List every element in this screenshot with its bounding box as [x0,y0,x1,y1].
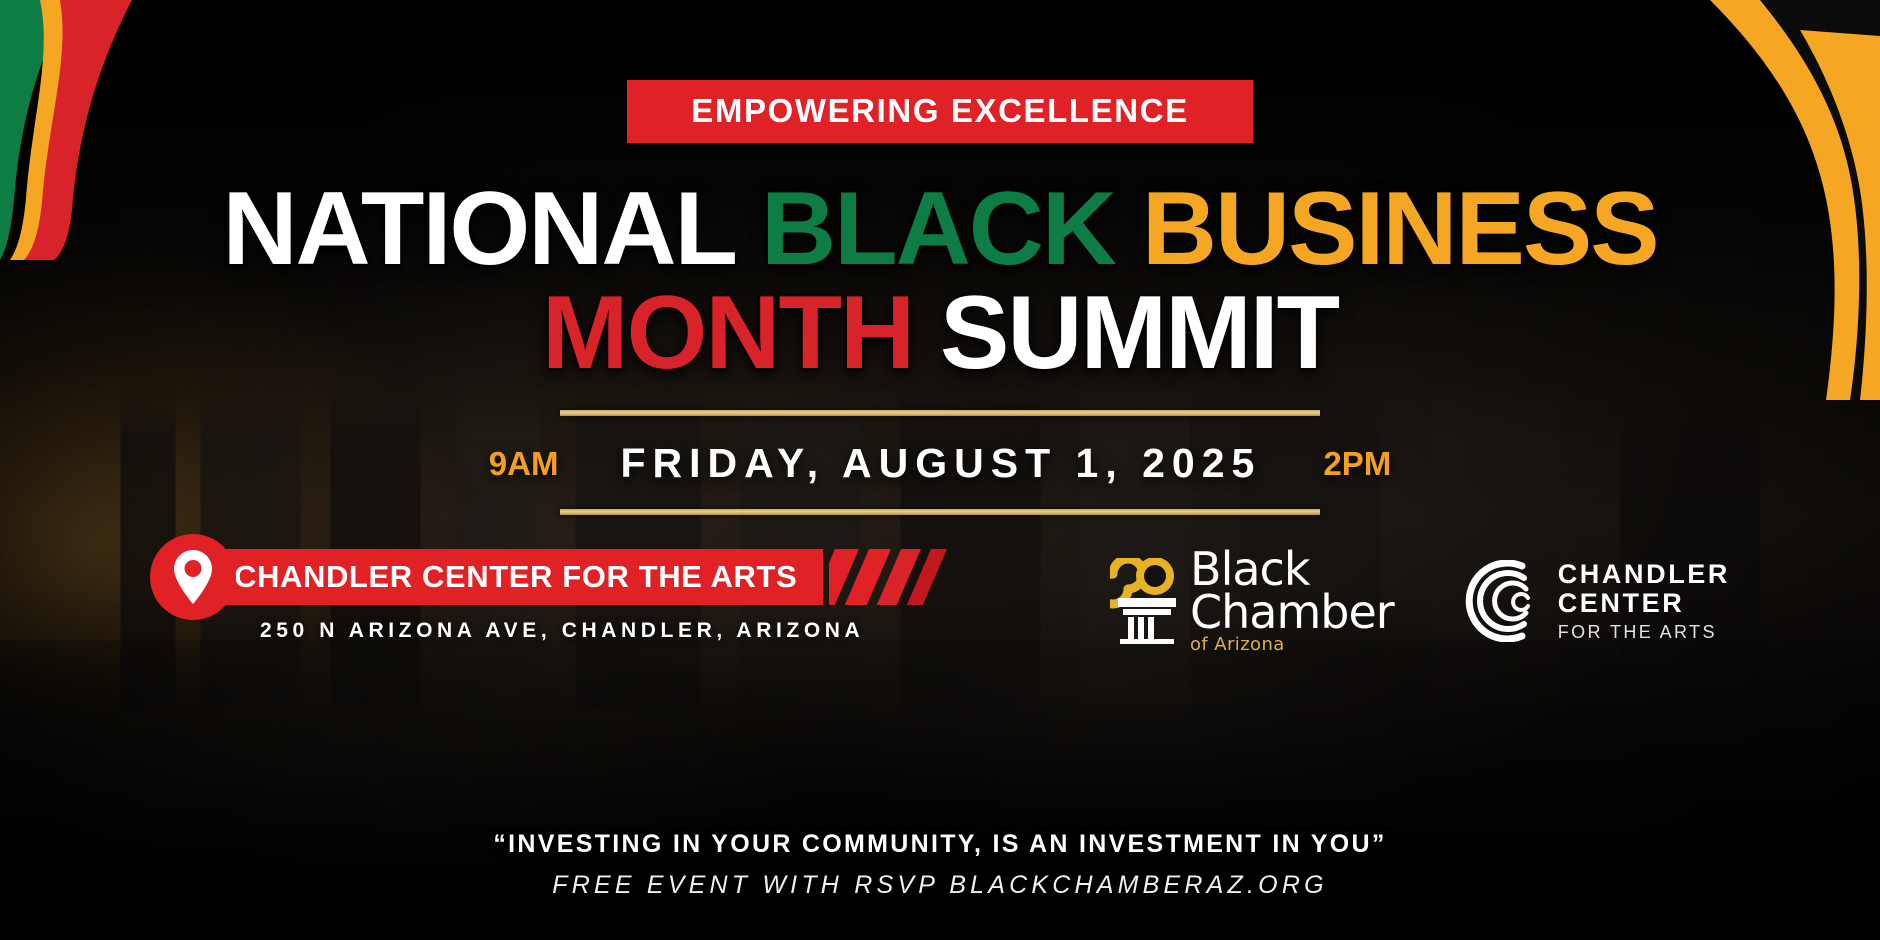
footer-rsvp: FREE EVENT WITH RSVP BLACKCHAMBERAZ.ORG [0,871,1880,900]
logo-black-chamber: Black Chamber of Arizona [1110,548,1394,654]
sponsor-logos: Black Chamber of Arizona CHANDLER C [1110,548,1730,654]
logo-chandler-center: CHANDLER CENTER FOR THE ARTS [1460,560,1730,642]
title-line-2: MONTH SUMMIT [0,284,1880,384]
venue-name: CHANDLER CENTER FOR THE ARTS [234,559,797,595]
divider-rule-bottom [560,509,1320,515]
venue-address: 250 N ARIZONA AVE, CHANDLER, ARIZONA [260,619,979,643]
venue-name-bar: CHANDLER CENTER FOR THE ARTS [198,549,823,605]
logo-chandler-center-line2: CENTER [1558,589,1730,618]
logo-black-chamber-line3: of Arizona [1190,637,1394,654]
end-time: 2PM [1323,445,1391,483]
logo-black-chamber-text: Black Chamber of Arizona [1190,548,1394,654]
pillar-column-icon [1110,558,1184,644]
title-word-business: BUSINESS [1142,171,1658,287]
start-time: 9AM [489,445,559,483]
event-date: FRIDAY, AUGUST 1, 2025 [620,440,1261,487]
logo-chandler-center-line3: FOR THE ARTS [1558,623,1730,642]
schedule-row: 9AM FRIDAY, AUGUST 1, 2025 2PM [0,440,1880,487]
title-line-1: NATIONAL BLACK BUSINESS [0,180,1880,280]
venue-bar-row: CHANDLER CENTER FOR THE ARTS [150,545,979,609]
title-word-summit: SUMMIT [940,275,1338,391]
eyebrow-banner: EMPOWERING EXCELLENCE [627,80,1252,143]
event-banner: EMPOWERING EXCELLENCE NATIONAL BLACK BUS… [0,0,1880,940]
location-pin-badge [150,534,236,620]
eyebrow-banner-wrap: EMPOWERING EXCELLENCE [0,80,1880,143]
logo-chandler-center-text: CHANDLER CENTER FOR THE ARTS [1558,560,1730,642]
page-title: NATIONAL BLACK BUSINESS MONTH SUMMIT [0,180,1880,384]
slash-accents-decoration [829,549,979,605]
eyebrow-label: EMPOWERING EXCELLENCE [691,92,1188,130]
divider-rule-top [560,410,1320,416]
title-word-month: MONTH [542,275,913,391]
logo-black-chamber-line2: Chamber [1190,591,1394,634]
location-pin-icon [173,549,213,605]
title-word-black: BLACK [761,171,1115,287]
schedule-strip: 9AM FRIDAY, AUGUST 1, 2025 2PM [0,410,1880,515]
logo-chandler-center-line1: CHANDLER [1558,560,1730,589]
title-word-national: NATIONAL [222,171,734,287]
footer-block: “INVESTING IN YOUR COMMUNITY, IS AN INVE… [0,830,1880,900]
concentric-arcs-icon [1460,560,1542,642]
venue-block: CHANDLER CENTER FOR THE ARTS 250 N ARIZO… [150,545,979,643]
footer-quote: “INVESTING IN YOUR COMMUNITY, IS AN INVE… [0,830,1880,859]
